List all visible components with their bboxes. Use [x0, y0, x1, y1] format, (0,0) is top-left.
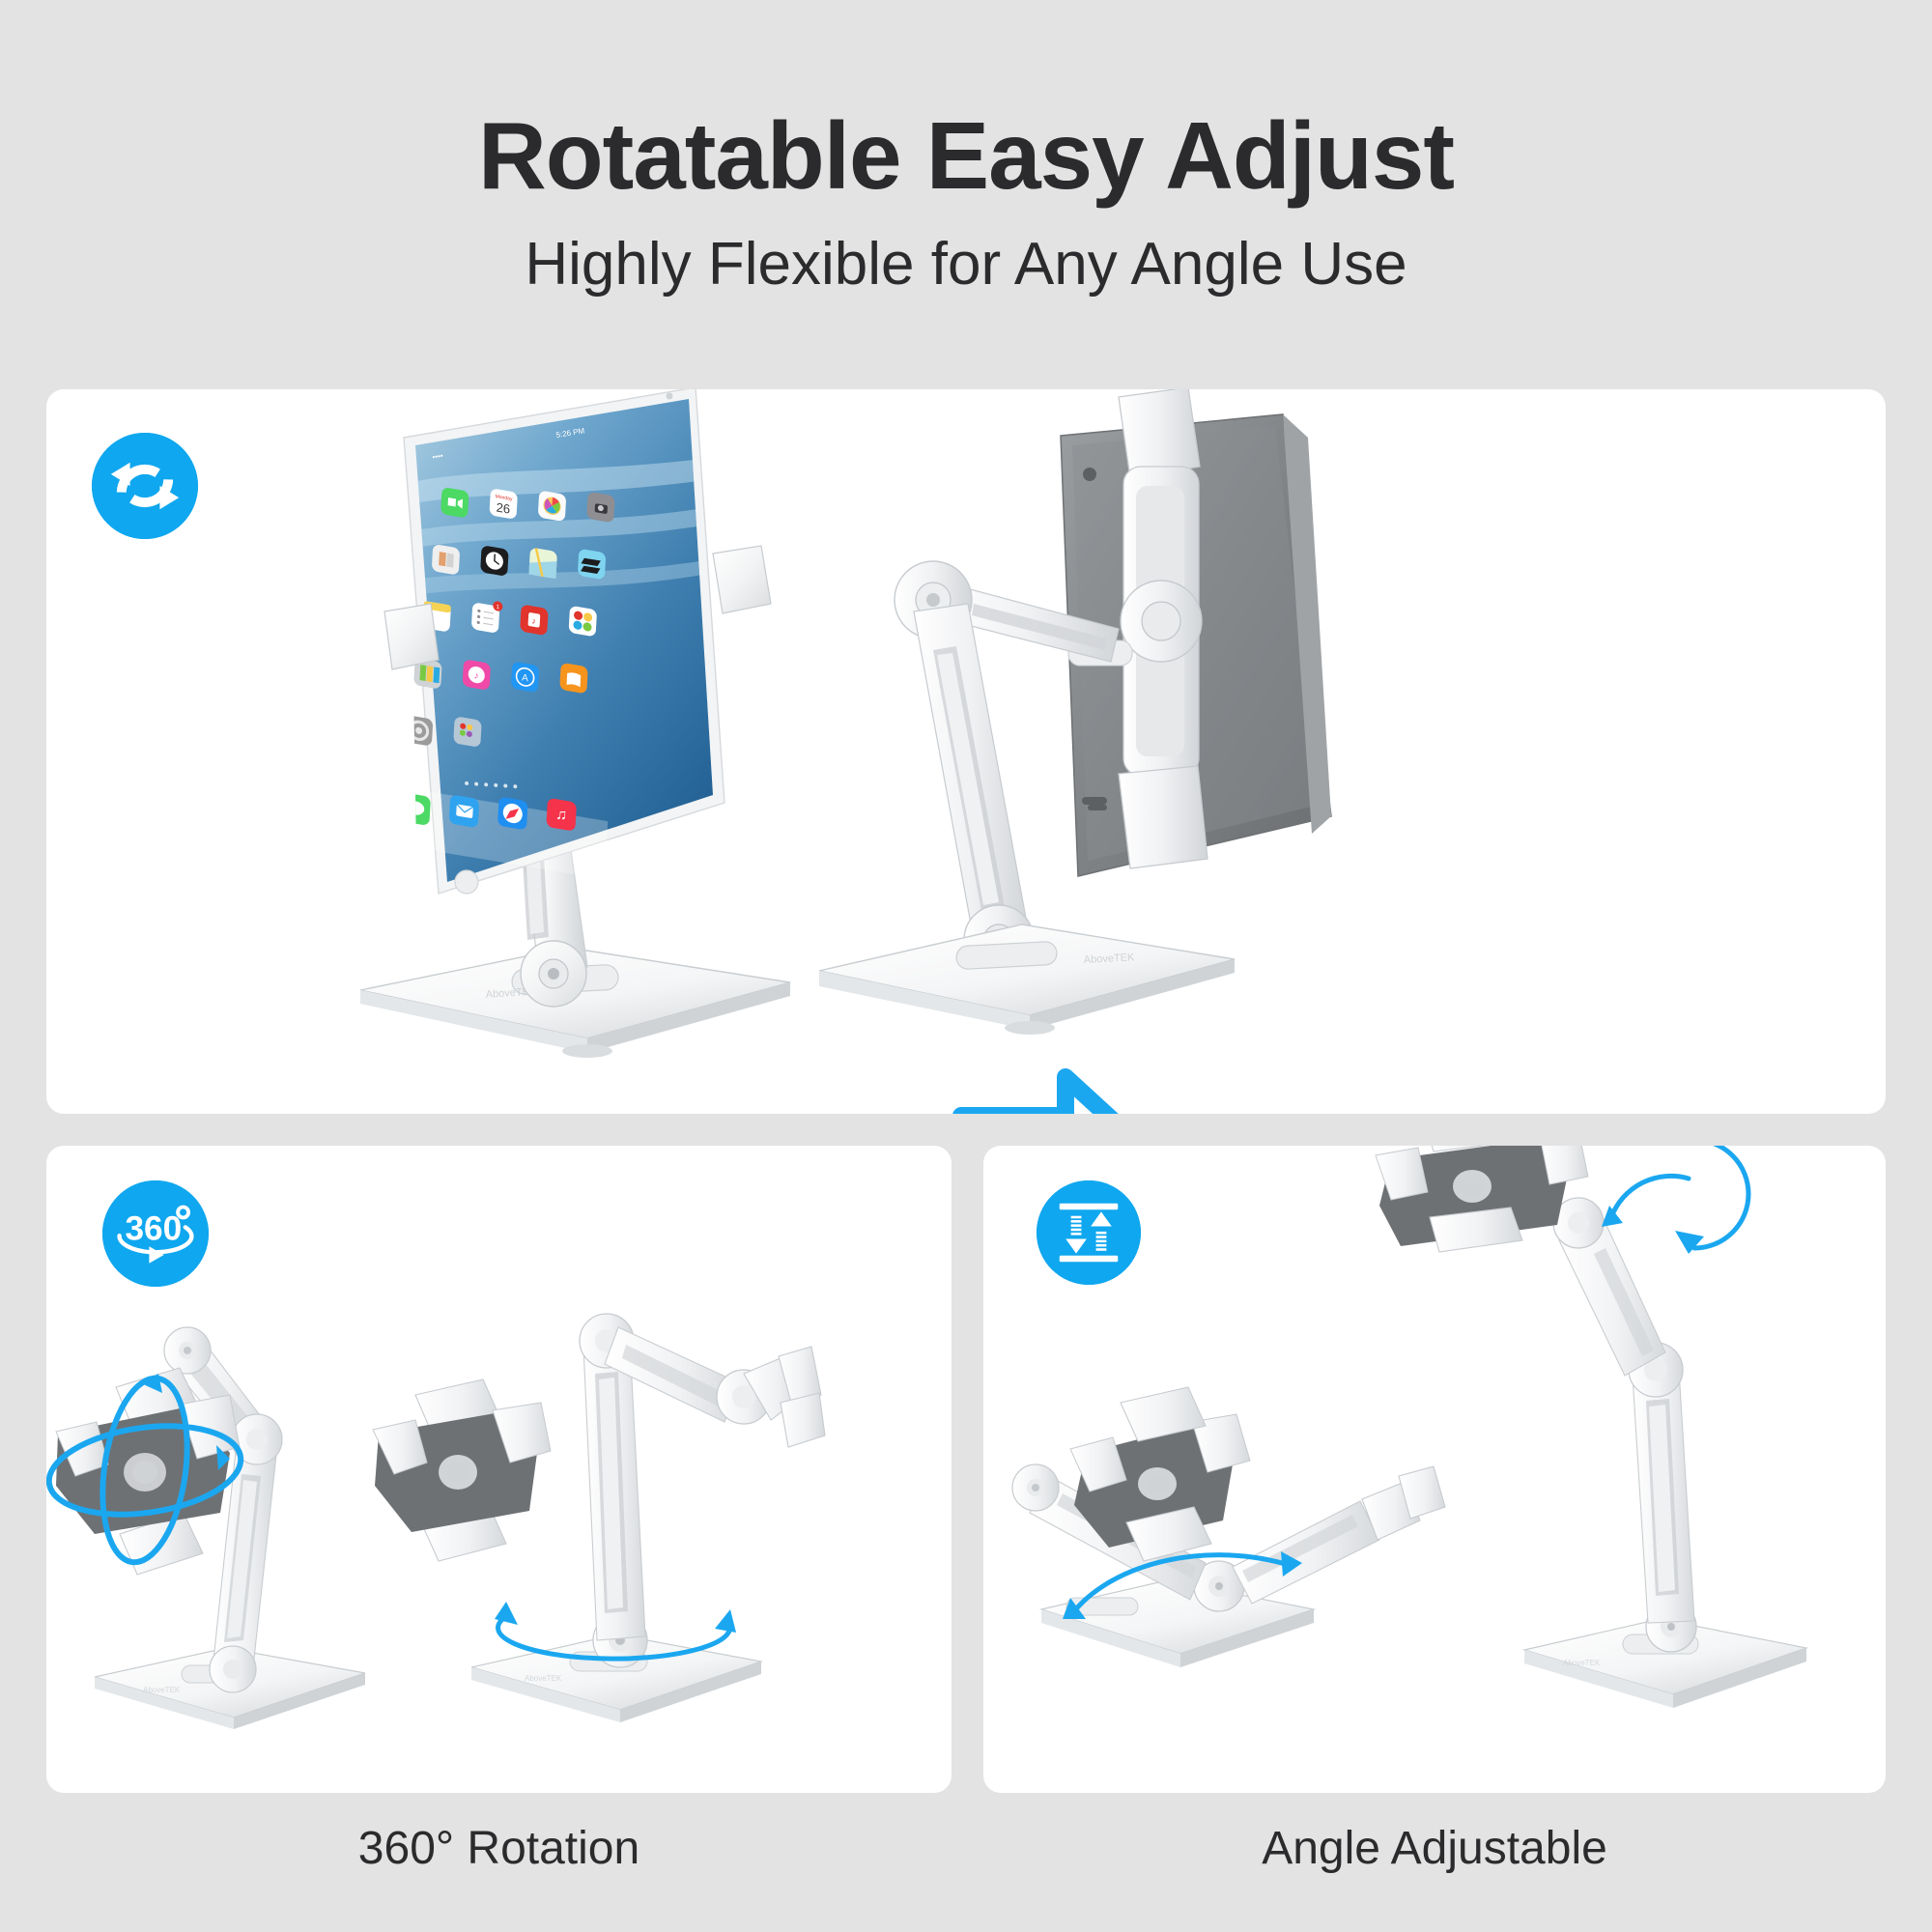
- svg-text:26: 26: [496, 499, 510, 516]
- svg-text:AboveTEK: AboveTEK: [525, 1674, 562, 1683]
- caption-360-rotation: 360° Rotation: [46, 1822, 952, 1875]
- angle-panel: AboveTEK: [983, 1146, 1886, 1793]
- svg-text:A: A: [522, 672, 529, 684]
- stand-vertical-arm: [583, 1343, 645, 1640]
- svg-text:AboveTEK: AboveTEK: [1563, 1659, 1601, 1667]
- infographic-page: Rotatable Easy Adjust Highly Flexible fo…: [0, 0, 1932, 1932]
- svg-text:♪: ♪: [531, 616, 536, 627]
- angle-device-right: [1376, 1146, 1588, 1252]
- stand-arm-raised-angle: AboveTEK: [1370, 1146, 1886, 1793]
- stand-swivel-base-rotation: AboveTEK: [365, 1204, 952, 1793]
- stand-side-arm: [605, 1327, 825, 1447]
- swap-arrows-icon: [921, 1056, 1172, 1114]
- stand-lower-arm-rear: [914, 604, 1034, 975]
- tablet-stand-rear-view-with-tablet: AboveTEK: [829, 389, 1563, 1104]
- stand-base-rear: AboveTEK: [819, 924, 1235, 1035]
- svg-text:♫: ♫: [555, 805, 568, 824]
- rotate-sync-icon: [92, 433, 198, 539]
- up-down-arrows-icon: [1037, 1180, 1141, 1285]
- rotatable-panel: AboveTEK: [46, 389, 1886, 1114]
- angle-vertical-arm: [1633, 1370, 1694, 1623]
- rotation-panel: AboveTEK: [46, 1146, 952, 1793]
- page-subtitle: Highly Flexible for Any Angle Use: [0, 230, 1932, 298]
- svg-text:360: 360: [125, 1210, 182, 1248]
- page-title: Rotatable Easy Adjust: [0, 106, 1932, 206]
- clamp-head-left: [56, 1368, 240, 1575]
- svg-text:♪: ♪: [473, 670, 479, 682]
- svg-text:AboveTEK: AboveTEK: [143, 1686, 181, 1694]
- clamp-head-right: [373, 1379, 551, 1561]
- tablet-stand-front-view-with-ipad: AboveTEK: [249, 389, 906, 1104]
- 360-rotation-icon: 360: [102, 1180, 209, 1287]
- svg-text:••••: ••••: [432, 451, 444, 462]
- caption-angle-adjustable: Angle Adjustable: [983, 1822, 1886, 1875]
